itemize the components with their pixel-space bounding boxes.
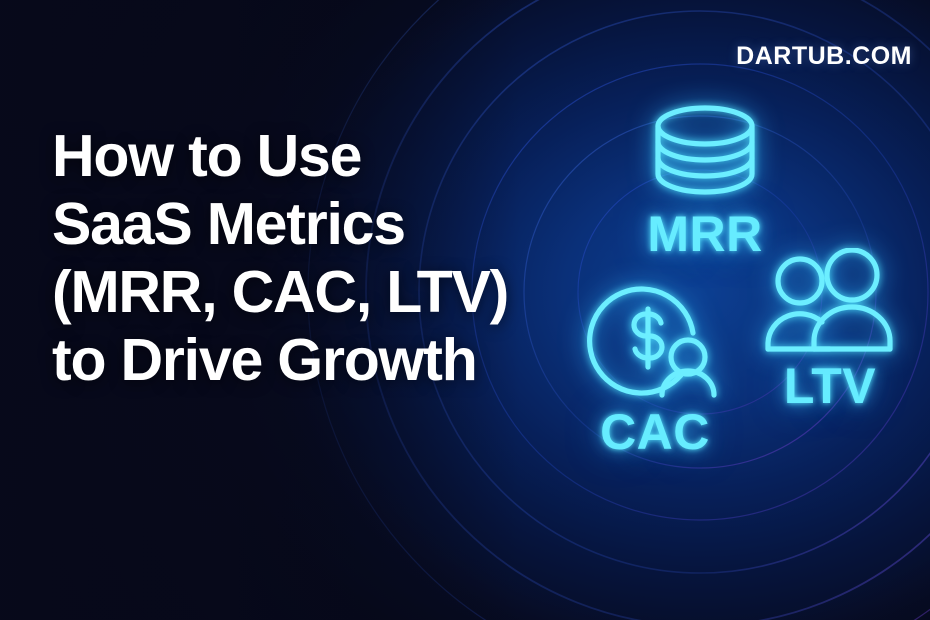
page-title: How to Use SaaS Metrics (MRR, CAC, LTV) … — [52, 122, 522, 394]
metric-mrr: MRR — [600, 100, 810, 259]
database-stack-icon — [600, 100, 810, 205]
metric-ltv-label: LTV — [740, 361, 920, 411]
dollar-circle-user-icon — [560, 278, 750, 405]
headline-line-1: How to Use — [52, 122, 522, 190]
metric-cac: CAC — [560, 278, 750, 457]
headline-line-4: to Drive Growth — [52, 326, 522, 394]
banner-canvas: DARTUB.COM How to Use SaaS Metrics (MRR,… — [0, 0, 930, 620]
headline-line-2: SaaS Metrics — [52, 190, 522, 258]
headline-line-3: (MRR, CAC, LTV) — [52, 258, 522, 326]
metric-cac-label: CAC — [560, 407, 750, 457]
brand-logo: DARTUB.COM — [736, 42, 912, 71]
metric-ltv: LTV — [740, 248, 920, 411]
users-group-icon — [740, 248, 920, 361]
